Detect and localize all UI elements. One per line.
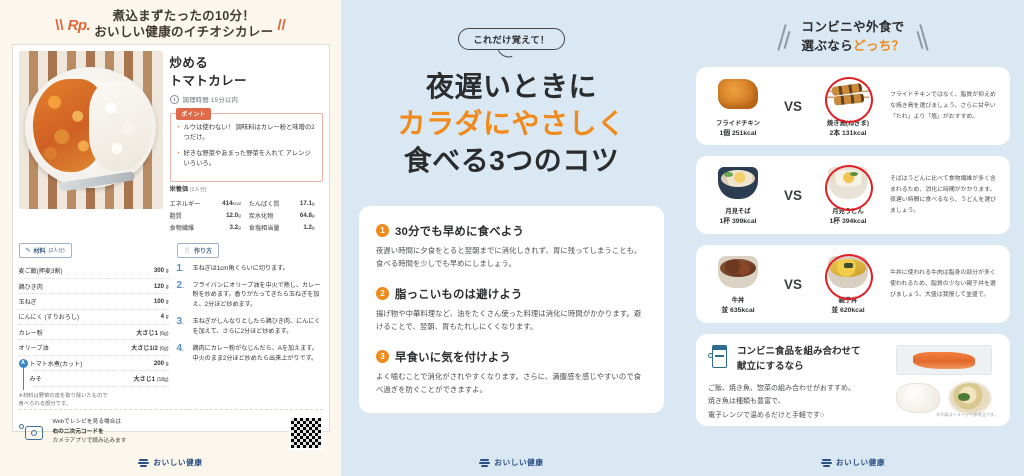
food-kcal: 並 620kcal: [816, 306, 880, 316]
ingredient-qty: 300 g: [111, 264, 168, 279]
comparison-header: コンビニや外食で 選ぶならどっち？: [696, 18, 1010, 56]
title-line1: コンビニや外食で: [801, 18, 904, 37]
comparison-note: 牛丼に使われる牛肉は脂身の部分が多く使われるため、脂質の少ない親子丼を選びましょ…: [886, 268, 1000, 300]
dish-name-line2: トマトカレー: [170, 72, 323, 90]
nutrition-table: エネルギー 414kcal たんぱく質 17.1g 脂質 12.0g 炭水化物 …: [170, 197, 323, 234]
list-item: 1.玉ねぎは1cm角くらいに切ります。: [177, 264, 323, 274]
cook-time-label: 調理時間 15分以内: [183, 95, 239, 104]
list-item: 2.フライパンにオリーブ油を中火で熱し、カレー粉を炒めます。香りがたってきたら玉…: [177, 281, 323, 311]
table-row: 玉ねぎ100 g: [19, 294, 169, 309]
recipe-card-body: ✎ 材料 (2人分) 麦ご飯(押麦3割)300 g 鶏ひき肉120 g 玉ねぎ1…: [19, 239, 323, 409]
brand-footer: おいしい健康: [0, 457, 341, 468]
combo-title: コンビニ食品を組み合わせて 献立にするなら: [737, 345, 861, 374]
page-title: 夜遅いときに カラダにやさしく 食べる3つのコツ: [359, 68, 664, 180]
food-kcal: 1杯 394kcal: [816, 217, 880, 227]
comparison-row: 牛丼 並 635kcal VS 親子丼 並 620kcal 牛丼に使われる牛肉は…: [696, 245, 1010, 323]
ingredient-name: トマト水煮(カット): [30, 356, 114, 371]
comparison-left-item: 月見そば 1杯 399kcal: [706, 163, 770, 227]
ingredients-serving: (2人分): [49, 247, 65, 254]
recipe-header-title: 煮込まずたったの10分！ おいしい健康のイチオシカレー: [94, 9, 273, 40]
food-name: フライドチキン: [706, 120, 770, 129]
tip-number-badge: 2: [376, 287, 389, 300]
step-number: 4.: [177, 344, 188, 364]
ingredient-qty: 4 g: [111, 309, 168, 324]
brand-footer: おいしい健康: [682, 457, 1024, 468]
ingredient-group-a: A トマト水煮(カット)200 g みそ大さじ1 (18g): [19, 356, 169, 387]
fridge-icon: [708, 345, 730, 369]
dish-name-line1: 炒める: [170, 54, 323, 72]
combo-body-line1: ご飯、焼き魚、惣菜の組み合わせがおすすめ。: [708, 382, 882, 395]
step-text: 玉ねぎがしんなりとしたら鶏ひき肉、にんにくを加えて、さらに2分ほど炒めます。: [193, 317, 323, 337]
tip-title: 早食いに気を付けよう: [395, 349, 511, 365]
combo-body-line2: 焼き魚は種類も豊富で、: [708, 395, 882, 408]
tips-card: 1 30分でも早めに食べよう 夜遅い時間に夕食をとると翌朝までに消化しきれず、胃…: [359, 206, 664, 413]
table-row: カレー粉大さじ1 (6g): [19, 325, 169, 340]
point-box: ポイント ルウは使わない！ 調味料はカレー粉と味噌の2つだけ。 好きな野菜やあま…: [170, 113, 323, 182]
combo-photos: ※写真はイメージで参考品です。: [890, 345, 998, 415]
tip-number-badge: 1: [376, 224, 389, 237]
table-row: にんにく (すりおろし)4 g: [19, 309, 169, 324]
list-item: 4.鶏肉にカレー粉がなじんだら、Aを加えます。中火のまま2分ほど炒めたら出来上が…: [177, 344, 323, 364]
vs-label: VS: [776, 99, 810, 114]
food-kcal: 1個 251kcal: [706, 129, 770, 139]
brand-logo-icon: [138, 457, 149, 468]
food-kcal: 並 635kcal: [706, 306, 770, 316]
tip-body: 揚げ物や中華料理など、油をたくさん使った料理は消化に時間がかかります。避けること…: [376, 308, 647, 334]
tip-header: 3 早食いに気を付けよう: [376, 349, 647, 365]
yakitori-icon: [825, 79, 871, 117]
table-row: 鶏ひき肉120 g: [19, 278, 169, 293]
steps-column: 🍴 作り方 1.玉ねぎは1cm角くらいに切ります。 2.フライパンにオリーブ油を…: [177, 239, 323, 409]
nutrition-section: 栄養価 (1人分) エネルギー 414kcal たんぱく質 17.1g: [170, 184, 323, 234]
title-line2: 選ぶならどっち？: [801, 37, 904, 56]
ingredients-group-table: トマト水煮(カット)200 g みそ大さじ1 (18g): [30, 356, 169, 387]
tips-panel: これだけ覚えて！ 夜遅いときに カラダにやさしく 食べる3つのコツ 1 30分で…: [341, 0, 682, 476]
clock-icon: [170, 95, 179, 104]
nutrition-value: 414kcal: [212, 197, 249, 209]
nutrition-label: 脂質: [170, 209, 213, 221]
ingredient-name: オリーブ油: [19, 340, 112, 355]
qr-line3: カメラアプリで読み込みます: [53, 437, 127, 447]
recipe-panel: \\ Rp. 煮込まずたったの10分！ おいしい健康のイチオシカレー // 炒め…: [0, 0, 341, 476]
combo-title-line1: コンビニ食品を組み合わせて: [737, 346, 861, 357]
point-badge: ポイント: [176, 108, 212, 120]
tip-title: 脂っこいものは避けよう: [395, 286, 523, 302]
ingredient-name: カレー粉: [19, 325, 112, 340]
food-kcal: 2本 131kcal: [816, 129, 880, 139]
table-row: 麦ご飯(押麦3割)300 g: [19, 264, 169, 279]
decoration-right-icon: [919, 24, 925, 51]
ingredient-name: にんにく (すりおろし): [19, 309, 112, 324]
nutrition-value: 1.2g: [291, 221, 322, 233]
decoration-right-icon: //: [277, 17, 285, 34]
step-text: フライパンにオリーブ油を中火で熱し、カレー粉を炒めます。香りがたってきたら玉ねぎ…: [193, 281, 323, 311]
combo-body-line3: 電子レンジで温めるだけと手軽です○: [708, 409, 882, 422]
ingredient-qty: 120 g: [111, 278, 168, 293]
gyudon-bowl-icon: [715, 256, 761, 294]
ingredients-tag-label: 材料: [34, 246, 46, 255]
comparison-row: 月見そば 1杯 399kcal VS 月見うどん 1杯 394kcal そばはう…: [696, 156, 1010, 234]
three-panel-layout: \\ Rp. 煮込まずたったの10分！ おいしい健康のイチオシカレー // 炒め…: [0, 0, 1024, 476]
food-kcal: 1杯 399kcal: [706, 217, 770, 227]
ingredient-name: 鶏ひき肉: [19, 278, 112, 293]
recipe-info: 炒める トマトカレー 調理時間 15分以内 ポイント ルウは使わない！ 調味料は…: [170, 51, 323, 234]
group-a-line: [23, 368, 24, 390]
steps-list: 1.玉ねぎは1cm角くらいに切ります。 2.フライパンにオリーブ油を中火で熱し、…: [177, 264, 323, 364]
camera-icon: [19, 422, 45, 444]
tip-header: 1 30分でも早めに食べよう: [376, 223, 647, 239]
step-number: 3.: [177, 317, 188, 337]
tip-title: 30分でも早めに食べよう: [395, 223, 524, 239]
qr-section[interactable]: Webでレシピを見る場合は 右の二次元コードを カメラアプリで読み込みます: [19, 409, 323, 450]
steps-tag-label: 作り方: [194, 246, 212, 255]
ingredient-name: みそ: [30, 371, 114, 386]
nutrition-value: 12.0g: [212, 209, 249, 221]
food-name: 牛丼: [706, 297, 770, 306]
combo-note: ※写真はイメージで参考品です。: [936, 412, 998, 418]
brand-name: おいしい健康: [153, 457, 202, 468]
nutrition-label: 食物繊維: [170, 221, 213, 233]
comparison-right-item: 親子丼 並 620kcal: [816, 252, 880, 316]
point-item: ルウは使わない！ 調味料はカレー粉と味噌の2つだけ。: [177, 123, 316, 143]
qr-instructions: Webでレシピを見る場合は 右の二次元コードを カメラアプリで読み込みます: [53, 418, 127, 447]
nutrition-label: 炭水化物: [249, 209, 292, 221]
steps-tag: 🍴 作り方: [177, 243, 220, 258]
point-item: 好きな野菜やあまった野菜を入れて アレンジいろいろ。: [177, 149, 316, 169]
vs-label: VS: [776, 188, 810, 203]
ingredient-qty: 100 g: [111, 294, 168, 309]
qr-line2: 右の二次元コードを: [53, 428, 127, 438]
ingredients-note: ※材料は野菜の皮を取り除いたもので 食べられる部分です。: [19, 392, 169, 409]
speech-bubble-tail-icon: [497, 45, 512, 60]
headline-line3: 食べる3つのコツ: [359, 142, 664, 179]
headline-line1: 夜遅いときに: [359, 68, 664, 105]
comparison-panel: コンビニや外食で 選ぶならどっち？ フライドチキン 1個 251kcal VS …: [682, 0, 1024, 476]
brand-logo-icon: [821, 457, 832, 468]
speech-bubble: これだけ覚えて！: [458, 28, 564, 50]
combo-header: コンビニ食品を組み合わせて 献立にするなら: [708, 345, 882, 374]
rice-shape: [89, 81, 151, 171]
speech-bubble-wrap: これだけ覚えて！: [359, 28, 664, 50]
combo-text-area: コンビニ食品を組み合わせて 献立にするなら ご飯、焼き魚、惣菜の組み合わせがおす…: [708, 345, 882, 415]
comparison-note: フライドチキンではなく、脂質が抑えめな焼き鳥を選びましょう。さらに甘辛い「たれ」…: [886, 90, 1000, 122]
decoration-left-icon: \\: [55, 17, 63, 34]
combo-card: コンビニ食品を組み合わせて 献立にするなら ご飯、焼き魚、惣菜の組み合わせがおす…: [696, 334, 1010, 426]
table-row: オリーブ油大さじ1/2 (6g): [19, 340, 169, 355]
ingredient-name: 玉ねぎ: [19, 294, 112, 309]
tip-item: 1 30分でも早めに食べよう 夜遅い時間に夕食をとると翌朝までに消化しきれず、胃…: [376, 223, 647, 271]
tip-item: 2 脂っこいものは避けよう 揚げ物や中華料理など、油をたくさん使った料理は消化に…: [376, 286, 647, 334]
tip-body: 夜遅い時間に夕食をとると翌朝までに消化しきれず、胃に残ってしまうことも。食べる時…: [376, 245, 647, 271]
ingredient-qty: 大さじ1/2 (6g): [111, 340, 168, 355]
step-text: 鶏肉にカレー粉がなじんだら、Aを加えます。中火のまま2分ほど炒めたら出来上がりで…: [193, 344, 323, 364]
combo-body: ご飯、焼き魚、惣菜の組み合わせがおすすめ。 焼き魚は種類も豊富で、 電子レンジで…: [708, 382, 882, 422]
nutrition-label: 食塩相当量: [249, 221, 292, 233]
table-row: 食物繊維 3.2g 食塩相当量 1.2g: [170, 221, 323, 233]
group-a-badge: A: [19, 359, 28, 368]
nutrition-value: 64.8g: [291, 209, 322, 221]
table-row: みそ大さじ1 (18g): [30, 371, 169, 386]
table-row: トマト水煮(カット)200 g: [30, 356, 169, 371]
recipe-header-line1: 煮込まずたったの10分！: [94, 9, 273, 25]
nutrition-serving: (1人分): [190, 187, 207, 193]
qr-code-image[interactable]: [289, 416, 323, 450]
tip-header: 2 脂っこいものは避けよう: [376, 286, 647, 302]
ingredient-qty: 200 g: [113, 356, 168, 371]
nutrition-heading-label: 栄養価: [170, 186, 189, 193]
pen-icon: ✎: [26, 247, 31, 254]
tip-number-badge: 3: [376, 350, 389, 363]
qr-line1: Webでレシピを見る場合は: [53, 418, 127, 428]
side-dish-icon: [948, 381, 992, 415]
brand-name: おいしい健康: [494, 457, 543, 468]
grilled-salmon-icon: [896, 345, 992, 375]
soba-bowl-icon: [715, 167, 761, 205]
ingredients-tag: ✎ 材料 (2人分): [19, 243, 72, 258]
ingredients-table: 麦ご飯(押麦3割)300 g 鶏ひき肉120 g 玉ねぎ100 g にんにく (…: [19, 264, 169, 356]
recipe-header: \\ Rp. 煮込まずたったの10分！ おいしい健康のイチオシカレー //: [10, 8, 331, 42]
recipe-header-line2: おいしい健康のイチオシカレー: [94, 25, 273, 41]
table-row: 脂質 12.0g 炭水化物 64.8g: [170, 209, 323, 221]
vs-label: VS: [776, 277, 810, 292]
comparison-left-item: フライドチキン 1個 251kcal: [706, 74, 770, 139]
ingredient-name: 麦ご飯(押麦3割): [19, 264, 112, 279]
point-list: ルウは使わない！ 調味料はカレー粉と味噌の2つだけ。 好きな野菜やあまった野菜を…: [177, 123, 316, 169]
list-item: 3.玉ねぎがしんなりとしたら鶏ひき肉、にんにくを加えて、さらに2分ほど炒めます。: [177, 317, 323, 337]
nutrition-heading: 栄養価 (1人分): [170, 184, 323, 193]
oyakodon-bowl-icon: [825, 256, 871, 294]
step-number: 2.: [177, 281, 188, 311]
comparison-note: そばはうどんに比べて食物繊維が多く含まれるため、消化に時間がかかります。夜遅い時…: [886, 174, 1000, 217]
brand-name: おいしい健康: [836, 457, 885, 468]
nutrition-value: 17.1g: [291, 197, 322, 209]
dish-photo: [19, 51, 163, 209]
table-row: エネルギー 414kcal たんぱく質 17.1g: [170, 197, 323, 209]
tip-item: 3 早食いに気を付けよう よく噛むことで消化がされやすくなります。さらに、満腹感…: [376, 349, 647, 397]
fried-chicken-icon: [715, 79, 761, 117]
nutrition-label: たんぱく質: [249, 197, 292, 209]
knife-fork-icon: 🍴: [184, 247, 191, 254]
ingredient-qty: 大さじ1 (6g): [111, 325, 168, 340]
ingredient-qty: 大さじ1 (18g): [113, 371, 168, 386]
ingredients-column: ✎ 材料 (2人分) 麦ご飯(押麦3割)300 g 鶏ひき肉120 g 玉ねぎ1…: [19, 239, 169, 409]
step-number: 1.: [177, 264, 188, 274]
recipe-card-top: 炒める トマトカレー 調理時間 15分以内 ポイント ルウは使わない！ 調味料は…: [19, 51, 323, 234]
decoration-left-icon: [781, 24, 787, 51]
cook-time: 調理時間 15分以内: [170, 95, 323, 104]
udon-bowl-icon: [825, 167, 871, 205]
comparison-row: フライドチキン 1個 251kcal VS 焼き鳥(ねぎま) 2本 131kca…: [696, 67, 1010, 145]
combo-title-line2: 献立にするなら: [737, 361, 804, 372]
headline-line2: カラダにやさしく: [359, 105, 664, 142]
nutrition-label: エネルギー: [170, 197, 213, 209]
rp-mark: Rp.: [68, 17, 91, 34]
food-name: 月見そば: [706, 208, 770, 217]
brand-footer: おいしい健康: [341, 457, 682, 468]
comparison-right-item: 月見うどん 1杯 394kcal: [816, 163, 880, 227]
tip-body: よく噛むことで消化がされやすくなります。さらに、満腹感を感じやすいので食べ過ぎを…: [376, 371, 647, 397]
rice-icon: [896, 383, 940, 413]
recipe-card: 炒める トマトカレー 調理時間 15分以内 ポイント ルウは使わない！ 調味料は…: [12, 44, 330, 432]
page-title: コンビニや外食で 選ぶならどっち？: [801, 18, 904, 56]
brand-logo-icon: [479, 457, 490, 468]
step-text: 玉ねぎは1cm角くらいに切ります。: [193, 264, 289, 274]
nutrition-value: 3.2g: [212, 221, 249, 233]
comparison-right-item: 焼き鳥(ねぎま) 2本 131kcal: [816, 74, 880, 139]
comparison-left-item: 牛丼 並 635kcal: [706, 252, 770, 316]
